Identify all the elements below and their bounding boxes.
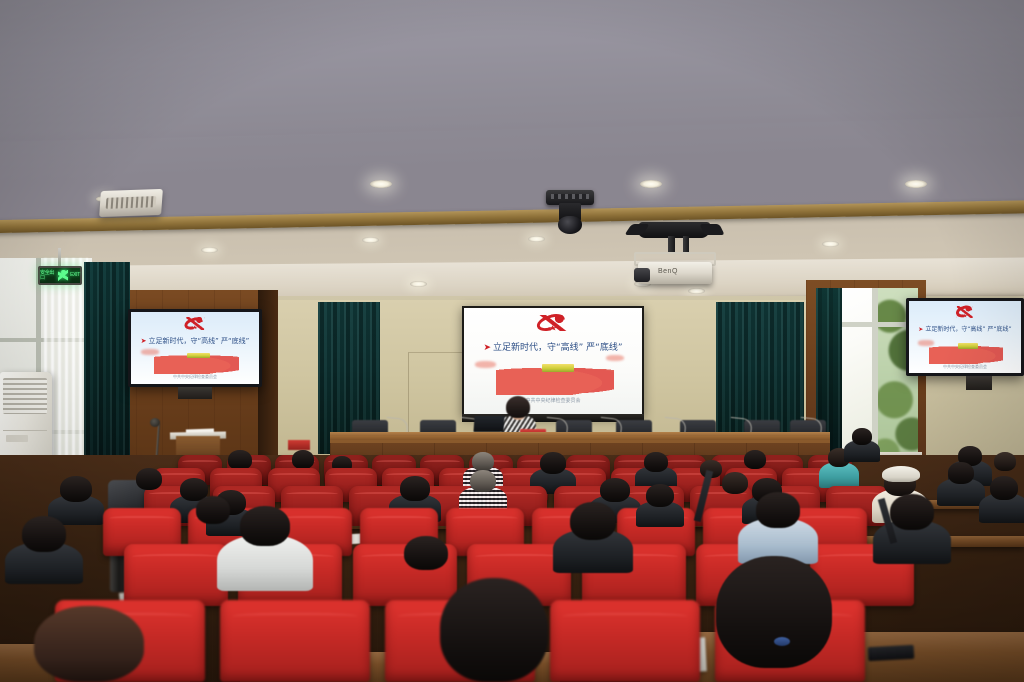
ceiling-ptz-camera-icon [546, 190, 594, 234]
exit-sign-hanger [58, 248, 61, 268]
ceiling-downlight [640, 180, 662, 188]
camera-lens [558, 216, 582, 234]
slide-right: ➤立足新时代，守“高线” 严“底线” 中共中央纪律检查委员会 [909, 301, 1021, 373]
audience-member-head [400, 476, 430, 501]
exit-sign-left-text: 安全出口 [40, 271, 56, 281]
slide-headline: ➤立足新时代，守“高线” 严“底线” [475, 340, 632, 353]
audience-member-head [644, 452, 668, 472]
ac-grille [3, 378, 47, 414]
slide-arrow-icon: ➤ [918, 326, 923, 333]
ceiling-downlight [370, 180, 392, 188]
slide-headline-text: 立足新时代，守“高线” 严“底线” [149, 337, 250, 345]
ceiling-downlight [362, 237, 379, 243]
slide-headline-text: 立足新时代，守“高线” 严“底线” [925, 326, 1011, 333]
audience-member-head [722, 472, 748, 494]
hair-tie [774, 637, 790, 646]
projection-screen[interactable]: ➤立足新时代，守“高线” 严“底线” 中共中央纪律检查委员会 [462, 306, 644, 416]
slide-footer: 中共中央纪律检查委员会 [925, 364, 1006, 370]
audience-member-head [240, 506, 290, 546]
ceiling-downlight [201, 247, 218, 253]
mobile-phone[interactable] [868, 645, 915, 661]
slide-footer: 中共中央纪律检查委员会 [149, 374, 241, 380]
ceiling-downlight [688, 288, 705, 294]
projector-lens [634, 268, 650, 282]
audience-seat[interactable] [220, 600, 370, 682]
right-wall-monitor[interactable]: ➤立足新时代，守“高线” 严“底线” 中共中央纪律检查委员会 [906, 298, 1024, 376]
audience-member-head [440, 578, 548, 682]
ceiling-downlight [410, 281, 427, 287]
audience-member-head [196, 496, 230, 524]
projector-brand-label: BenQ [658, 268, 706, 278]
presenter-hair [506, 396, 530, 418]
audience-member-head [228, 450, 252, 470]
audience-member-head [990, 476, 1018, 500]
right-monitor-surface: ➤立足新时代，守“高线” 严“底线” 中共中央纪律检查委员会 [909, 301, 1021, 373]
audience-member-head [646, 484, 674, 507]
exit-sign-right-text: EXIT [70, 273, 80, 278]
ceiling-projector-icon: BenQ [628, 222, 720, 284]
white-cap [882, 466, 920, 482]
audience-member-head [22, 516, 66, 552]
audience-member-head [890, 494, 934, 530]
hammer-and-sickle-emblem [533, 312, 572, 333]
running-man-icon [58, 270, 68, 282]
projection-screen-surface: ➤立足新时代，守“高线” 严“底线” 中共中央纪律检查委员会 [464, 308, 642, 414]
audience-member-head [756, 492, 800, 528]
audience-seat[interactable] [550, 600, 700, 682]
slide-headline: ➤立足新时代，守“高线” 严“底线” [139, 336, 252, 346]
audience-member-head [470, 470, 496, 492]
hammer-and-sickle-emblem [182, 316, 208, 332]
audience-member-head [60, 476, 92, 502]
projector-body: BenQ [638, 262, 712, 284]
audience-member-head [136, 468, 162, 490]
audience-member-head [994, 452, 1016, 471]
audience-member-head [570, 502, 616, 540]
audience-member-head [292, 450, 314, 469]
audience-member-head [404, 536, 448, 570]
slide-arrow-icon: ➤ [483, 343, 491, 353]
left-monitor-surface: ➤立足新时代，守“高线” 严“底线” 中共中央纪律检查委员会 [131, 312, 259, 384]
slide-main: ➤立足新时代，守“高线” 严“底线” 中共中央纪律检查委员会 [464, 308, 642, 414]
left-wall-monitor[interactable]: ➤立足新时代，守“高线” 严“底线” 中共中央纪律检查委员会 [128, 309, 262, 387]
audience-member-head [744, 450, 766, 469]
map-gold-highlight [542, 364, 574, 371]
audience-member-head [948, 462, 974, 484]
map-gold-highlight [187, 353, 210, 358]
emergency-exit-sign: 安全出口 EXIT [38, 266, 82, 285]
red-placard [288, 440, 310, 450]
ceiling-downlight [528, 236, 545, 242]
slide-arrow-icon: ➤ [141, 337, 147, 345]
microphone-icon [150, 418, 160, 427]
audience-member-head [600, 478, 630, 502]
audience-member-head [34, 606, 144, 682]
ceiling-vent [99, 189, 163, 217]
right-monitor-mount [966, 376, 992, 390]
audience-seat[interactable] [124, 544, 228, 606]
hammer-and-sickle-emblem [954, 304, 976, 320]
audience-member-head [852, 428, 872, 445]
slide-left: ➤立足新时代，守“高线” 严“底线” 中共中央纪律检查委员会 [131, 312, 259, 384]
slide-headline: ➤立足新时代，守“高线” 严“底线” [916, 324, 1015, 333]
audience-member-head [472, 452, 494, 471]
map-gold-highlight [958, 343, 978, 348]
ceiling-downlight [905, 180, 927, 188]
left-monitor-mount [178, 387, 212, 399]
ceiling-downlight [822, 241, 839, 247]
audience-member-head [540, 452, 566, 474]
ac-logo [6, 435, 28, 442]
audience-member-head [716, 556, 832, 668]
conference-hall-photo: BenQ 安全出口 EXIT [0, 0, 1024, 682]
slide-headline-text: 立足新时代，守“高线” 严“底线” [493, 343, 623, 353]
laptop [473, 416, 504, 432]
